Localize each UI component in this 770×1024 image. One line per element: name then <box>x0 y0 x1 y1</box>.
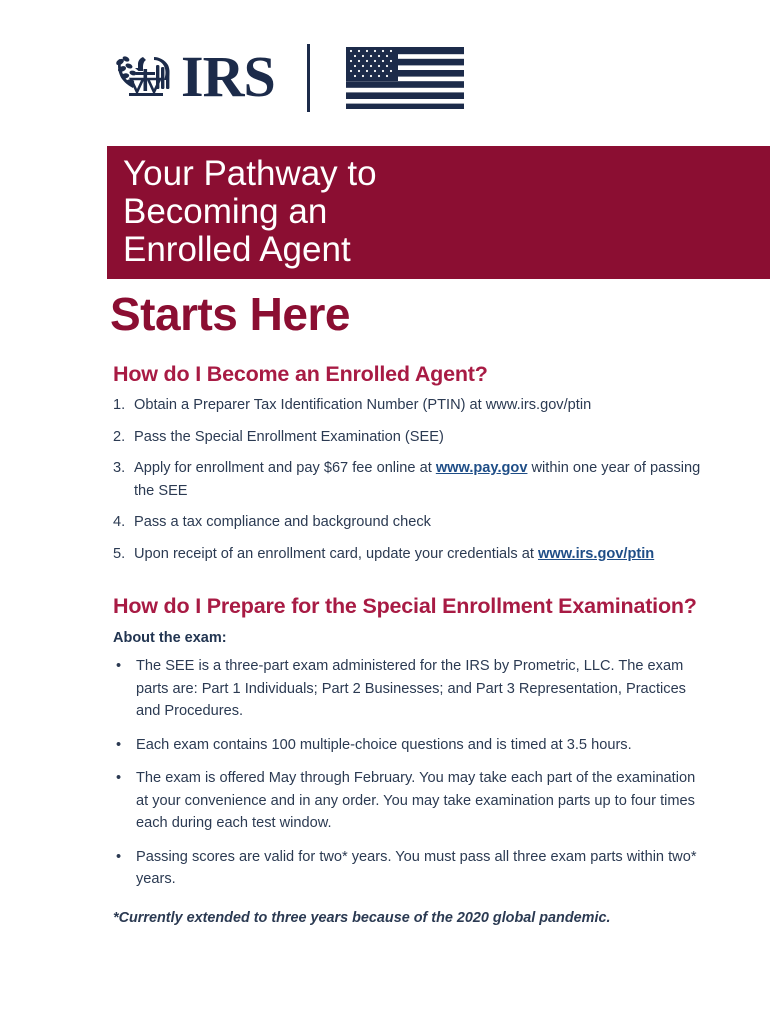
bullet-text: The SEE is a three-part exam administere… <box>136 658 686 719</box>
logo-divider <box>307 44 310 112</box>
bullet-text: Each exam contains 100 multiple-choice q… <box>136 737 632 753</box>
irs-wordmark: IRS <box>181 48 275 106</box>
document-body: How do I Become an Enrolled Agent? 1. Ob… <box>113 362 705 929</box>
title-banner: Your Pathway to Becoming an Enrolled Age… <box>107 146 770 279</box>
list-item: • The SEE is a three-part exam administe… <box>113 655 705 723</box>
list-item: 1. Obtain a Preparer Tax Identification … <box>113 394 705 417</box>
list-item: • Each exam contains 100 multiple-choice… <box>113 734 705 757</box>
list-item: 4. Pass a tax compliance and background … <box>113 511 705 534</box>
step-number: 3. <box>113 457 125 480</box>
pay-gov-link[interactable]: www.pay.gov <box>436 460 528 476</box>
list-item: 3. Apply for enrollment and pay $67 fee … <box>113 457 705 502</box>
section-heading-become-enrolled-agent: How do I Become an Enrolled Agent? <box>113 362 705 387</box>
step-text: Pass a tax compliance and background che… <box>134 514 431 530</box>
become-enrolled-agent-steps: 1. Obtain a Preparer Tax Identification … <box>113 394 705 565</box>
bullet-text: Passing scores are valid for two* years.… <box>136 849 697 888</box>
about-the-exam-bullets: • The SEE is a three-part exam administe… <box>113 655 705 891</box>
page-title-starts-here: Starts Here <box>110 288 350 340</box>
irs-gov-ptin-link[interactable]: www.irs.gov/ptin <box>538 546 654 562</box>
bullet-glyph: • <box>116 734 121 757</box>
step-number: 1. <box>113 394 125 417</box>
step-number: 4. <box>113 511 125 534</box>
banner-line-2: Becoming an <box>123 193 770 231</box>
bullet-text: The exam is offered May through February… <box>136 770 695 831</box>
bullet-glyph: • <box>116 655 121 678</box>
list-item: 5. Upon receipt of an enrollment card, u… <box>113 543 705 566</box>
bullet-glyph: • <box>116 767 121 790</box>
step-text: Upon receipt of an enrollment card, upda… <box>134 546 654 562</box>
bullet-glyph: • <box>116 846 121 869</box>
footnote-two-year-extension: *Currently extended to three years becau… <box>113 908 633 929</box>
step-number: 5. <box>113 543 125 566</box>
step-text: Pass the Special Enrollment Examination … <box>134 429 444 445</box>
step-text: Apply for enrollment and pay $67 fee onl… <box>134 460 700 499</box>
us-flag-icon <box>346 47 464 109</box>
banner-line-3: Enrolled Agent <box>123 231 770 269</box>
banner-line-1: Your Pathway to <box>123 155 770 193</box>
about-the-exam-label: About the exam: <box>113 630 705 646</box>
list-item: 2. Pass the Special Enrollment Examinati… <box>113 426 705 449</box>
step-number: 2. <box>113 426 125 449</box>
list-item: • The exam is offered May through Februa… <box>113 767 705 835</box>
irs-eagle-scales-emblem <box>113 45 179 111</box>
section-heading-prepare-for-see: How do I Prepare for the Special Enrollm… <box>113 594 705 619</box>
list-item: • Passing scores are valid for two* year… <box>113 846 705 891</box>
irs-logo-lockup: IRS <box>113 42 464 114</box>
step-text: Obtain a Preparer Tax Identification Num… <box>134 397 591 413</box>
